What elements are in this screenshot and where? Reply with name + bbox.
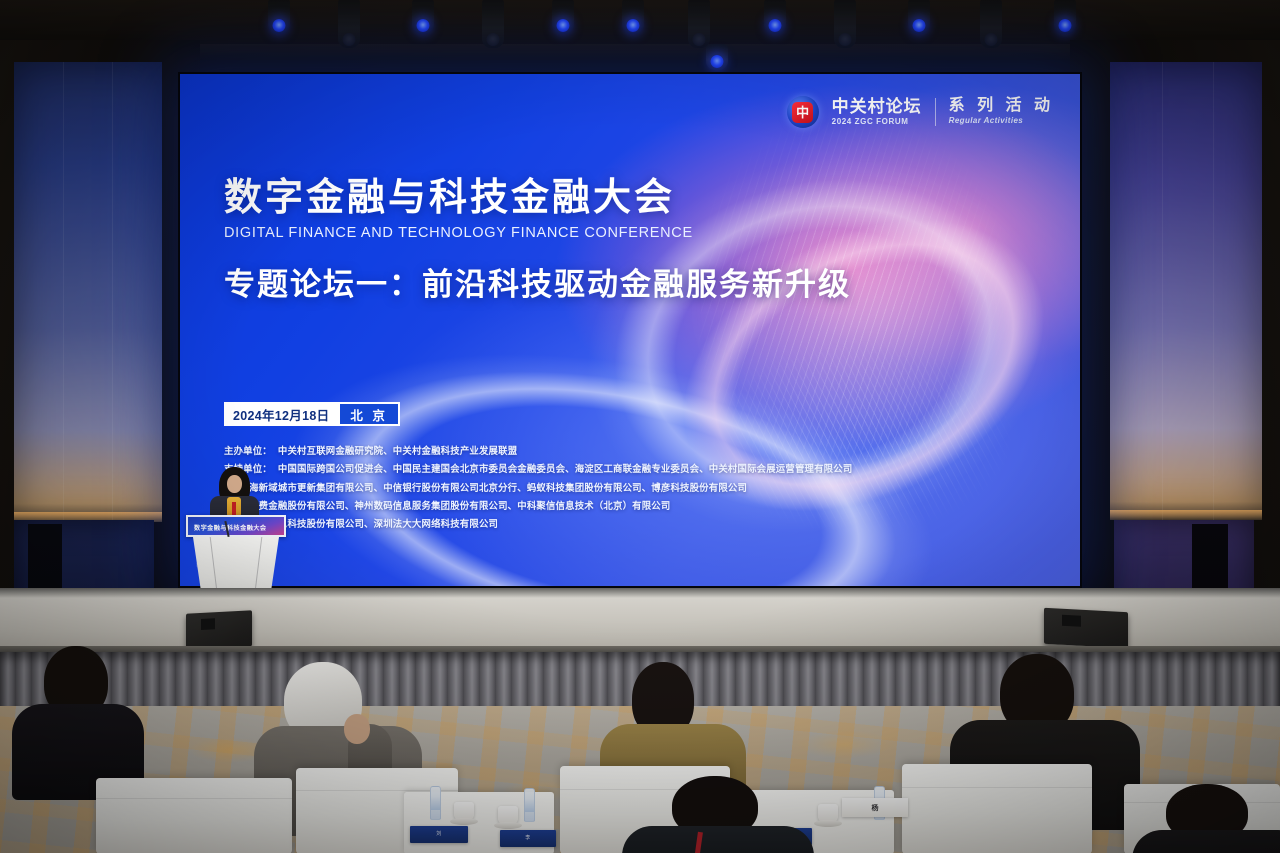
name-card-text: 李 — [500, 834, 556, 841]
brand-en-name: 2024 ZGC FORUM — [832, 118, 922, 126]
conference-title-cn: 数字金融与科技金融大会 — [224, 178, 851, 220]
screen-title-block: 数字金融与科技金融大会 DIGITAL FINANCE AND TECHNOLO… — [224, 178, 851, 304]
organizer-line: 上海合合信息科技股份有限公司、深圳法大大网络科技有限公司 — [224, 515, 852, 533]
zgc-forum-logo: 中 中关村论坛 2024 ZGC FORUM 系 列 活 动 Regular A… — [787, 96, 1054, 128]
place-name-card-2: 李 — [500, 830, 556, 847]
series-en-label: Regular Activities — [949, 117, 1054, 125]
forum-subtitle-cn: 专题论坛一：前沿科技驱动金融服务新升级 — [224, 259, 851, 304]
organizer-text: 马上消费金融股份有限公司、神州数码信息服务集团股份有限公司、中科聚信信息技术（北… — [230, 500, 670, 511]
armchair-right — [902, 764, 1092, 853]
organizer-text: 中关村互联网金融研究院、中关村金融科技产业发展联盟 — [278, 445, 517, 456]
audience-member-foreground-right — [1148, 784, 1280, 853]
floor-monitor-left — [186, 610, 252, 649]
right-lit-wall-panel — [1110, 62, 1262, 520]
organizer-line: 主办单位：中关村互联网金融研究院、中关村金融科技产业发展联盟 — [224, 442, 852, 460]
audience-member-foreground-center — [632, 776, 802, 853]
audience-member-back-left — [22, 646, 132, 776]
organizer-line: 北京海新域城市更新集团有限公司、中信银行股份有限公司北京分行、蚂蚁科技集团股份有… — [224, 479, 852, 497]
water-bottle-2 — [524, 788, 535, 822]
brand-divider — [935, 98, 936, 126]
hand — [344, 714, 370, 744]
conference-photo-scene: 中 中关村论坛 2024 ZGC FORUM 系 列 活 动 Regular A… — [0, 0, 1280, 853]
water-bottle-1 — [430, 786, 441, 820]
series-cn-label: 系 列 活 动 — [949, 98, 1054, 115]
saucer-1 — [450, 818, 478, 825]
saucer-2 — [494, 822, 522, 829]
event-city: 北 京 — [340, 404, 397, 424]
name-card-text: 刘 — [410, 830, 468, 837]
tent-card-text: 杨 — [842, 803, 908, 813]
podium-banner-panel: 数字金融与科技金融大会 — [186, 515, 286, 537]
stage-deck-shadow — [0, 588, 1280, 598]
saucer-3 — [814, 820, 842, 827]
date-location-badge: 2024年12月18日 北 京 — [224, 402, 400, 426]
organizer-text: 北京海新域城市更新集团有限公司、中信银行股份有限公司北京分行、蚂蚁科技集团股份有… — [230, 482, 747, 493]
led-screen-frame: 中 中关村论坛 2024 ZGC FORUM 系 列 活 动 Regular A… — [178, 72, 1082, 588]
organizer-line: 支持单位：中国国际跨国公司促进会、中国民主建国会北京市委员会金融委员会、海淀区工… — [224, 460, 852, 478]
organizer-line: 马上消费金融股份有限公司、神州数码信息服务集团股份有限公司、中科聚信信息技术（北… — [224, 497, 852, 515]
brand-cn-name: 中关村论坛 — [832, 98, 922, 116]
table-tent-card: 杨 — [842, 798, 908, 817]
floor-monitor-right — [1044, 608, 1128, 648]
torso — [1132, 830, 1280, 853]
led-screen: 中 中关村论坛 2024 ZGC FORUM 系 列 活 动 Regular A… — [180, 74, 1080, 586]
organizer-text: 中国国际跨国公司促进会、中国民主建国会北京市委员会金融委员会、海淀区工商联金融专… — [278, 463, 853, 474]
speaker-face — [227, 475, 242, 493]
left-lit-wall-panel — [14, 62, 162, 522]
place-name-card-1: 刘 — [410, 826, 468, 843]
torso — [622, 826, 814, 853]
emblem-glyph: 中 — [792, 102, 813, 123]
armchair-left — [96, 778, 292, 853]
organizer-list: 主办单位：中关村互联网金融研究院、中关村金融科技产业发展联盟 支持单位：中国国际… — [224, 442, 852, 534]
conference-title-en: DIGITAL FINANCE AND TECHNOLOGY FINANCE C… — [224, 225, 851, 241]
podium-banner-text: 数字金融与科技金融大会 — [194, 523, 266, 532]
forum-emblem-icon: 中 — [787, 96, 819, 128]
organizer-label: 主办单位： — [224, 445, 272, 456]
event-date: 2024年12月18日 — [224, 402, 338, 426]
